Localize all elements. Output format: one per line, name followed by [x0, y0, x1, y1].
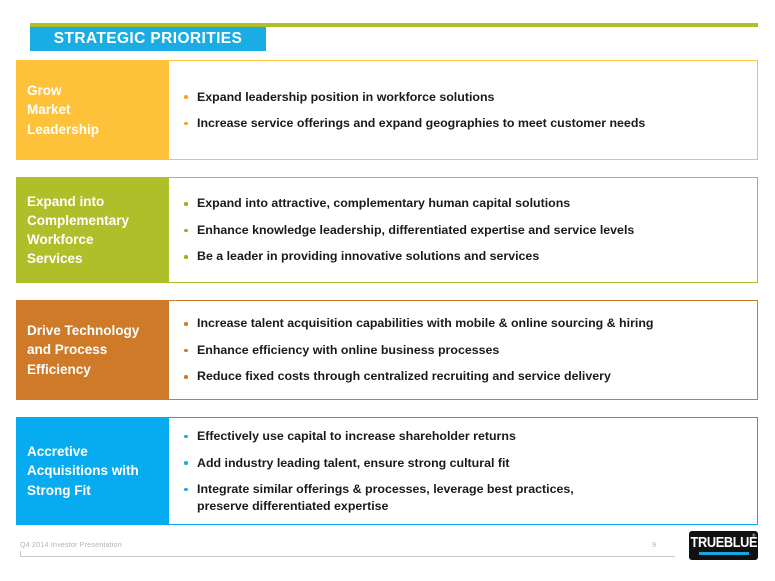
- bullet-dot-icon: [184, 255, 188, 259]
- bullet-item: Expand into attractive, complementary hu…: [183, 195, 747, 212]
- priorities-list: Grow Market Leadership Expand leadership…: [16, 60, 758, 542]
- bullet-dot-icon: [184, 435, 188, 439]
- priority-label-line: Efficiency: [27, 360, 169, 379]
- bullet-dot-icon: [184, 461, 188, 465]
- bullet-dot-icon: [184, 122, 188, 126]
- registered-trademark-icon: ®: [752, 534, 755, 539]
- bullet-item: Increase service offerings and expand ge…: [183, 115, 747, 132]
- bullet-item: Add industry leading talent, ensure stro…: [183, 455, 747, 472]
- footer-presentation-label: Q4 2014 Investor Presentation: [20, 540, 122, 549]
- priority-row-accretive-acquisitions-strong-fit: Accretive Acquisitions with Strong Fit E…: [16, 417, 758, 525]
- priority-label-line: Workforce: [27, 230, 169, 249]
- bullet-text: Enhance knowledge leadership, differenti…: [197, 223, 634, 237]
- bullet-text: Add industry leading talent, ensure stro…: [197, 456, 510, 470]
- priority-label-line: Expand into: [27, 192, 169, 211]
- bullet-item: Enhance knowledge leadership, differenti…: [183, 222, 747, 239]
- bullet-text: Effectively use capital to increase shar…: [197, 429, 516, 443]
- bullet-item: Enhance efficiency with online business …: [183, 342, 747, 359]
- bullet-dot-icon: [184, 488, 188, 492]
- priority-label-line: Leadership: [27, 120, 169, 139]
- bullet-text: Increase service offerings and expand ge…: [197, 116, 645, 130]
- priority-label-line: Strong Fit: [27, 481, 169, 500]
- logo-underline-bar: [699, 552, 749, 555]
- bullet-text: Reduce fixed costs through centralized r…: [197, 369, 611, 383]
- bullet-dot-icon: [184, 95, 188, 99]
- bullet-item: Reduce fixed costs through centralized r…: [183, 368, 747, 385]
- priority-label-line: and Process: [27, 340, 169, 359]
- slide: STRATEGIC PRIORITIES Grow Market Leaders…: [0, 0, 775, 581]
- priority-label-line: Complementary: [27, 211, 169, 230]
- priority-label-line: Accretive: [27, 442, 169, 461]
- priority-row-grow-market-leadership: Grow Market Leadership Expand leadership…: [16, 60, 758, 160]
- logo-wordmark: TRUEBLUE: [690, 536, 757, 551]
- bullet-dot-icon: [184, 375, 188, 379]
- priority-bullets-drive-technology-process-efficiency: Increase talent acquisition capabilities…: [169, 301, 757, 399]
- priority-label-drive-technology-process-efficiency: Drive Technology and Process Efficiency: [17, 301, 169, 399]
- priority-bullets-grow-market-leadership: Expand leadership position in workforce …: [169, 61, 757, 159]
- bullet-text: Enhance efficiency with online business …: [197, 343, 499, 357]
- bullet-item: Expand leadership position in workforce …: [183, 89, 747, 106]
- priority-label-grow-market-leadership: Grow Market Leadership: [17, 61, 169, 159]
- priority-label-line: Drive Technology: [27, 321, 169, 340]
- priority-row-expand-complementary-workforce-services: Expand into Complementary Workforce Serv…: [16, 177, 758, 283]
- bullet-item: Increase talent acquisition capabilities…: [183, 315, 747, 332]
- trueblue-logo: TRUEBLUE ®: [689, 531, 758, 560]
- priority-label-expand-complementary-workforce-services: Expand into Complementary Workforce Serv…: [17, 178, 169, 282]
- page-title: STRATEGIC PRIORITIES: [54, 30, 243, 48]
- footer-divider-rule: [20, 556, 675, 557]
- priority-label-line: Acquisitions with: [27, 461, 169, 480]
- bullet-text: Expand leadership position in workforce …: [197, 90, 494, 104]
- bullet-item: Integrate similar offerings & processes,…: [183, 481, 617, 514]
- bullet-text: Be a leader in providing innovative solu…: [197, 249, 539, 263]
- footer-page-number: 9: [652, 540, 656, 549]
- priority-label-accretive-acquisitions-strong-fit: Accretive Acquisitions with Strong Fit: [17, 418, 169, 524]
- bullet-dot-icon: [184, 229, 188, 233]
- slide-title-banner: STRATEGIC PRIORITIES: [30, 27, 266, 51]
- priority-label-line: Services: [27, 249, 169, 268]
- bullet-text: Expand into attractive, complementary hu…: [197, 196, 570, 210]
- bullet-dot-icon: [184, 202, 188, 206]
- bullet-text: Integrate similar offerings & processes,…: [197, 482, 574, 513]
- priority-row-drive-technology-process-efficiency: Drive Technology and Process Efficiency …: [16, 300, 758, 400]
- bullet-item: Effectively use capital to increase shar…: [183, 428, 747, 445]
- bullet-dot-icon: [184, 322, 188, 326]
- priority-bullets-accretive-acquisitions-strong-fit: Effectively use capital to increase shar…: [169, 418, 757, 524]
- bullet-text: Increase talent acquisition capabilities…: [197, 316, 653, 330]
- bullet-item: Be a leader in providing innovative solu…: [183, 248, 747, 265]
- priority-label-line: Grow: [27, 81, 169, 100]
- bullet-dot-icon: [184, 349, 188, 353]
- priority-bullets-expand-complementary-workforce-services: Expand into attractive, complementary hu…: [169, 178, 757, 282]
- priority-label-line: Market: [27, 100, 169, 119]
